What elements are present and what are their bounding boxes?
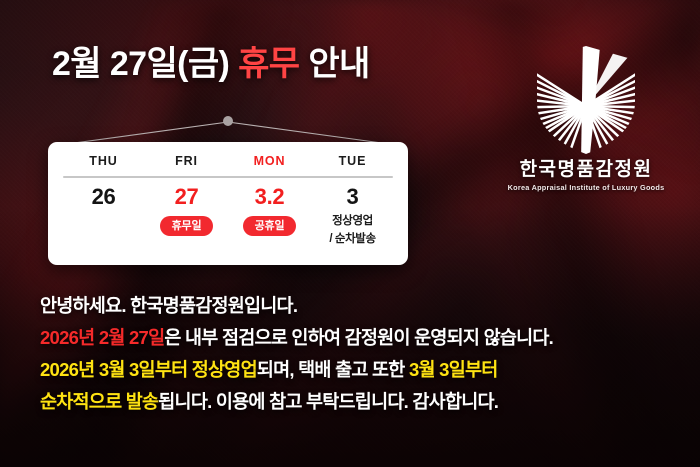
status-badge-closed: 휴무일 (160, 216, 214, 236)
notice-line-3: 2026년 3월 3일부터 정상영업되며, 택배 출고 또한 3월 3일부터 (40, 354, 680, 386)
calendar-cell-tue: 3 정상영업 / 순차발송 (311, 178, 394, 247)
calendar-column-mon: MON (228, 153, 311, 169)
status-badge-public-holiday: 공휴일 (243, 216, 297, 236)
notice-line-4: 순차적으로 발송됩니다. 이용에 참고 부탁드립니다. 감사합니다. (40, 386, 680, 418)
calendar-dow-row: THU FRI MON TUE (62, 153, 394, 169)
dow-label-mon: MON (228, 153, 311, 169)
notice-line-1: 안녕하세요. 한국명품감정원입니다. (40, 290, 680, 322)
note-normal-operation: 정상영업 (311, 214, 394, 229)
dow-label-fri: FRI (145, 153, 228, 169)
note-sequential-shipping: / 순차발송 (311, 232, 394, 247)
calendar-cell-thu: 26 (62, 178, 145, 247)
hanger-pin-icon (223, 116, 233, 126)
calendar-cell-mon: 3.2 공휴일 (228, 178, 311, 247)
calendar-column-tue: TUE (311, 153, 394, 169)
day-number-27: 27 (145, 183, 228, 211)
calendar-column-fri: FRI (145, 153, 228, 169)
calendar-column-thu: THU (62, 153, 145, 169)
notice-line-4-seg-1: 순차적으로 발송 (40, 391, 158, 412)
notice-line-2-seg-2: 은 내부 점검으로 인하여 감정원이 운영되지 않습니다. (164, 327, 553, 348)
day-number-3: 3 (311, 183, 394, 211)
calendar-cell-fri: 27 휴무일 (145, 178, 228, 247)
dow-label-tue: TUE (311, 153, 394, 169)
holiday-notice-banner: 2월 27일(금) 휴무 안내 THU FRI MON TUE 26 (0, 0, 700, 467)
calendar-card: THU FRI MON TUE 26 27 휴무일 3.2 공휴 (48, 142, 408, 265)
dow-label-thu: THU (62, 153, 145, 169)
notice-line-2-seg-1: 2026년 2월 27일 (40, 327, 164, 348)
notice-line-3-seg-2: 되며, 택배 출고 또한 (257, 359, 409, 380)
logo-name-english: Korea Appraisal Institute of Luxury Good… (498, 182, 674, 193)
calendar-day-row: 26 27 휴무일 3.2 공휴일 3 정상영업 / 순차발송 (62, 178, 394, 247)
day-number-26: 26 (62, 183, 145, 211)
notice-line-4-seg-2: 됩니다. 이용에 참고 부탁드립니다. 감사합니다. (158, 391, 498, 412)
company-logo: 한국명품감정원 Korea Appraisal Institute of Lux… (498, 44, 674, 193)
notice-line-1-seg-1: 안녕하세요. 한국명품감정원입니다. (40, 295, 297, 316)
shield-rays-icon (531, 44, 641, 156)
logo-name-korean: 한국명품감정원 (498, 158, 674, 182)
notice-body: 안녕하세요. 한국명품감정원입니다. 2026년 2월 27일은 내부 점검으로… (40, 290, 680, 418)
day-number-3-2: 3.2 (228, 183, 311, 211)
notice-line-2: 2026년 2월 27일은 내부 점검으로 인하여 감정원이 운영되지 않습니다… (40, 322, 680, 354)
notice-line-3-seg-3: 3월 3일부터 (409, 359, 498, 380)
notice-line-3-seg-1: 2026년 3월 3일부터 정상영업 (40, 359, 257, 380)
